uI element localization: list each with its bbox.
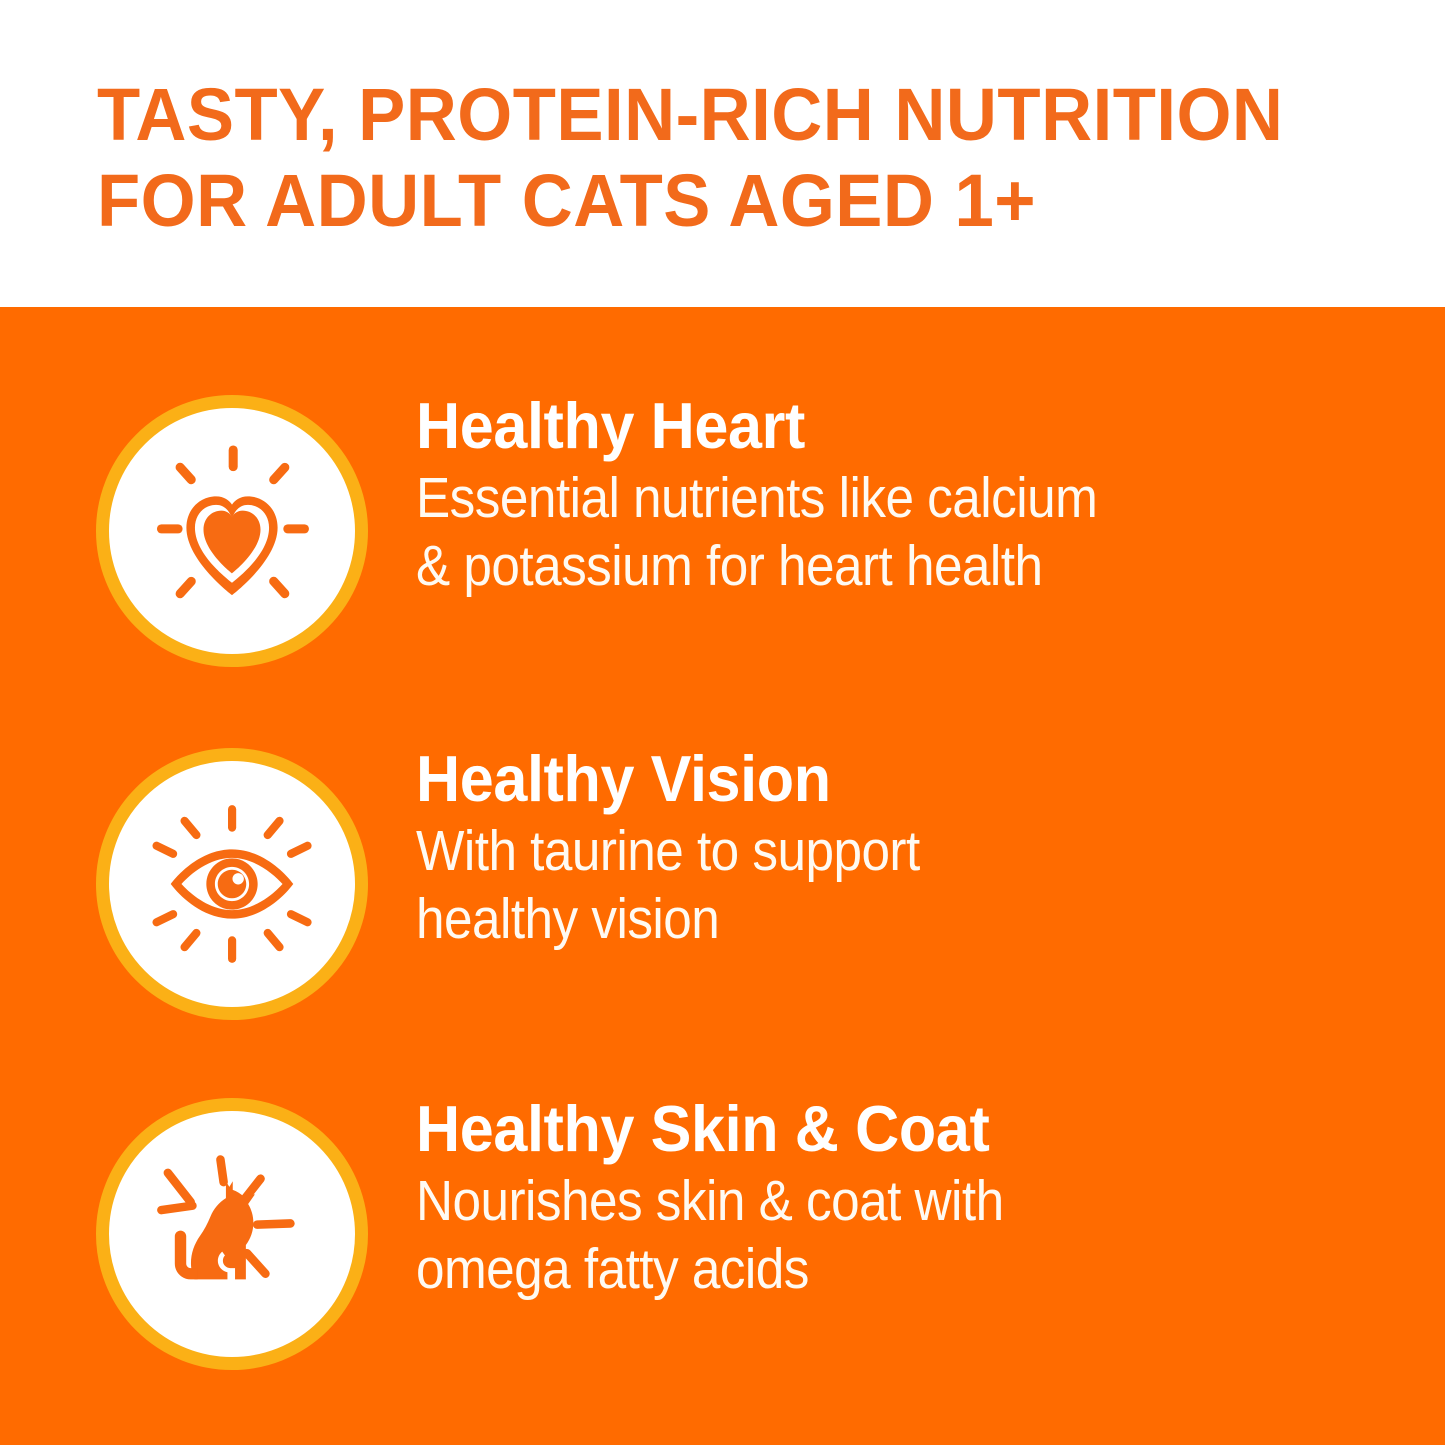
feature-row-healthy-skin-and-coat: Healthy Skin & Coat Nourishes skin & coa… — [0, 1093, 1445, 1373]
icon-badge-healthy-vision — [96, 748, 368, 1020]
heart-with-rays-icon — [137, 436, 327, 626]
page-title: TASTY, PROTEIN-RICH NUTRITION FOR ADULT … — [97, 72, 1310, 244]
feature-description-line: With taurine to support — [416, 817, 1262, 885]
feature-title: Healthy Skin & Coat — [416, 1093, 1300, 1165]
header-band: TASTY, PROTEIN-RICH NUTRITION FOR ADULT … — [0, 0, 1445, 307]
page-title-line-1: TASTY, PROTEIN-RICH NUTRITION — [97, 72, 1310, 158]
feature-description: With taurine to support healthy vision — [416, 817, 1262, 953]
feature-description-line: & potassium for heart health — [416, 532, 1262, 600]
eye-with-rays-icon — [137, 789, 327, 979]
feature-row-healthy-heart: Healthy Heart Essential nutrients like c… — [0, 390, 1445, 670]
feature-text-healthy-skin-and-coat: Healthy Skin & Coat Nourishes skin & coa… — [416, 1093, 1356, 1303]
feature-description: Nourishes skin & coat with omega fatty a… — [416, 1167, 1262, 1303]
feature-row-healthy-vision: Healthy Vision With taurine to support h… — [0, 743, 1445, 1023]
feature-description-line: Nourishes skin & coat with — [416, 1167, 1262, 1235]
icon-badge-healthy-heart — [96, 395, 368, 667]
feature-description-line: omega fatty acids — [416, 1235, 1262, 1303]
page-title-line-2: FOR ADULT CATS AGED 1+ — [97, 158, 1310, 244]
sitting-cat-with-rays-icon — [137, 1139, 327, 1329]
feature-text-healthy-heart: Healthy Heart Essential nutrients like c… — [416, 390, 1356, 600]
feature-description-line: healthy vision — [416, 885, 1262, 953]
feature-description-line: Essential nutrients like calcium — [416, 464, 1262, 532]
icon-badge-healthy-skin-and-coat — [96, 1098, 368, 1370]
feature-text-healthy-vision: Healthy Vision With taurine to support h… — [416, 743, 1356, 953]
feature-description: Essential nutrients like calcium & potas… — [416, 464, 1262, 600]
product-benefits-panel: TASTY, PROTEIN-RICH NUTRITION FOR ADULT … — [0, 0, 1445, 1445]
feature-title: Healthy Heart — [416, 390, 1300, 462]
feature-title: Healthy Vision — [416, 743, 1300, 815]
